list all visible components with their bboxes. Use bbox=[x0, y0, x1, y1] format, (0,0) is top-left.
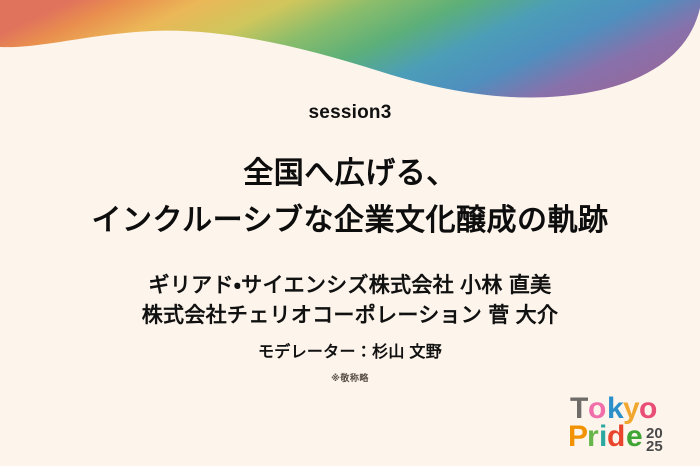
speaker-list: ギリアド・サイエンシズ株式会社 小林 直美 株式会社チェリオコーポレーション 菅… bbox=[142, 271, 559, 384]
session-title-slide: session3 全国へ広げる、 インクルーシブな企業文化醸成の軌跡 ギリアド・… bbox=[0, 0, 700, 466]
speaker-2: 株式会社チェリオコーポレーション 菅 大介 bbox=[142, 301, 559, 331]
honorific-note: ※敬称略 bbox=[142, 371, 559, 384]
logo-year-bottom: 25 bbox=[646, 438, 663, 454]
logo-letter-d: d bbox=[607, 420, 625, 453]
logo-letter-e: e bbox=[626, 420, 643, 453]
page-title: 全国へ広げる、 インクルーシブな企業文化醸成の軌跡 bbox=[92, 155, 609, 241]
page-title-line-1: 全国へ広げる、 bbox=[92, 155, 609, 193]
speaker-1: ギリアド・サイエンシズ株式会社 小林 直美 bbox=[142, 271, 559, 301]
logo-letter-r: r bbox=[587, 420, 599, 453]
tokyo-pride-2025-logo: T o k y o P r i d e 20 25 bbox=[568, 388, 686, 454]
logo-letter-P: P bbox=[568, 420, 588, 453]
page-title-line-2: インクルーシブな企業文化醸成の軌跡 bbox=[92, 202, 609, 240]
session-label: session3 bbox=[309, 103, 392, 122]
moderator: モデレーター：杉山 文野 bbox=[142, 338, 559, 362]
